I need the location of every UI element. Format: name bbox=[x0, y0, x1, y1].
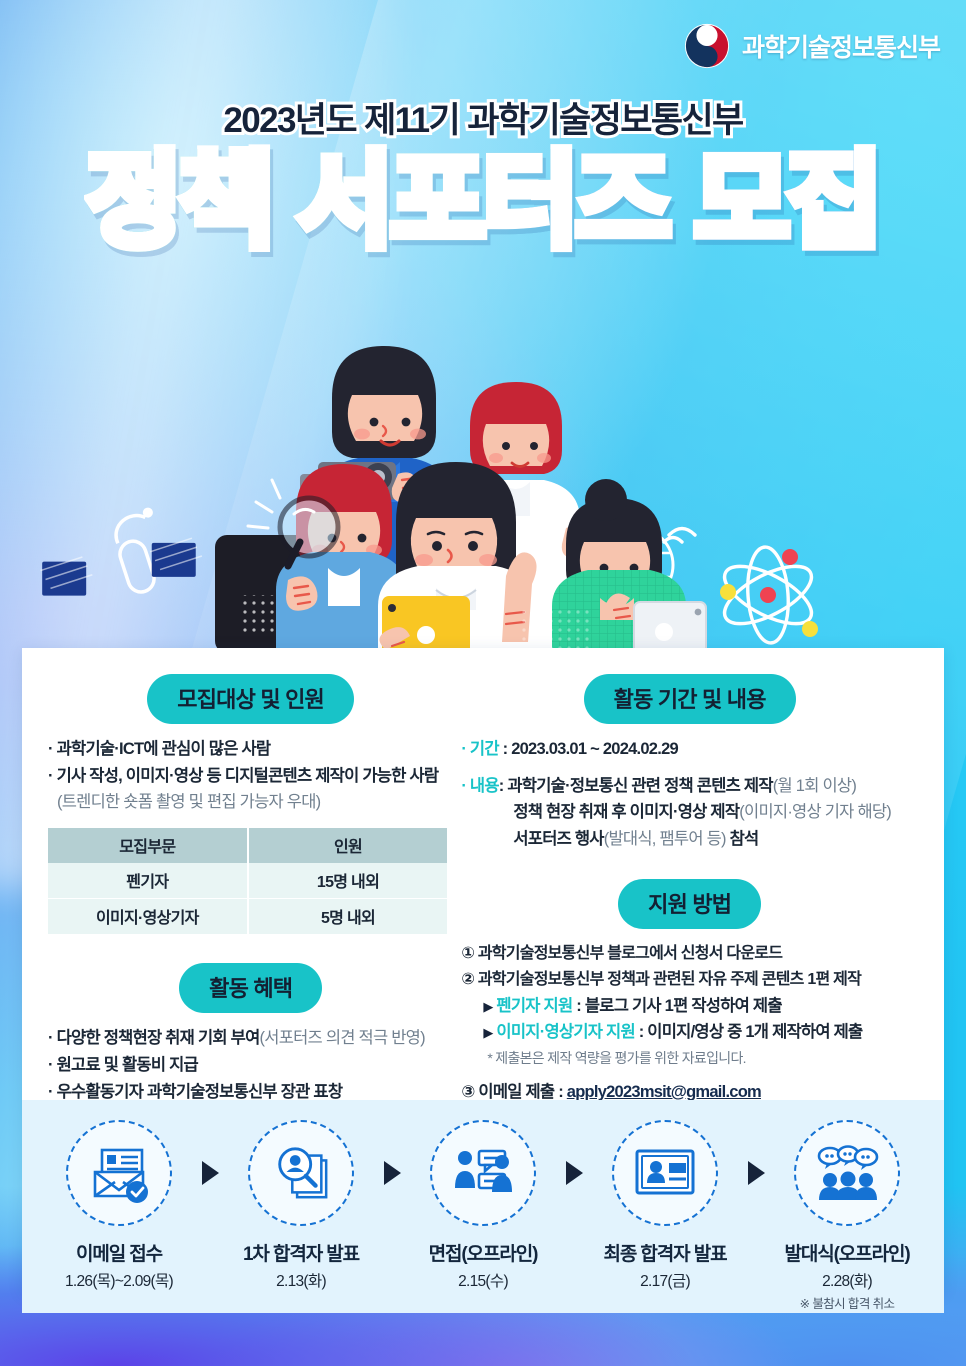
substep-1-value: : 블로그 기사 1편 작성하여 제출 bbox=[576, 997, 782, 1015]
section-recruit-target: 모집대상 및 인원 bbox=[48, 674, 447, 724]
recruit-target-bullets: · 과학기술·ICT에 관심이 많은 사람 · 기사 작성, 이미지·영상 등 … bbox=[48, 736, 447, 816]
ministry-name: 과학기술정보통신부 bbox=[742, 28, 940, 64]
content-value-1: : 과학기술·정보통신 관련 정책 콘텐츠 제작 bbox=[499, 777, 773, 795]
section-apply-method: 지원 방법 bbox=[461, 879, 918, 929]
list-item: · 기사 작성, 이미지·영상 등 디지털콘텐츠 제작이 가능한 사람 bbox=[48, 763, 447, 790]
activity-period-block: · 기간 : 2023.03.01 ~ 2024.02.29 · 내용: 과학기… bbox=[461, 736, 918, 853]
content-value-2b: 이미지·영상 제작 bbox=[626, 803, 739, 821]
arrow-right-icon bbox=[188, 1120, 232, 1226]
interview-person-icon bbox=[452, 1142, 514, 1204]
recruit-target-note: (트렌디한 숏폼 촬영 및 편집 가능자 우대) bbox=[48, 789, 447, 816]
table-cell-division: 펜기자 bbox=[48, 863, 248, 899]
timeline-step-first-result: 1차 합격자 발표 2.13(화) bbox=[232, 1120, 370, 1291]
recruit-table: 모집부문 인원 펜기자 15명 내외 이미지·영상기자 5명 내외 bbox=[48, 828, 447, 935]
timeline-step-final-result: 최종 합격자 발표 2.17(금) bbox=[596, 1120, 734, 1291]
email-link[interactable]: apply2023msit@gmail.com bbox=[567, 1083, 761, 1101]
content-paren-1: (월 1회 이상) bbox=[773, 777, 856, 795]
table-row: 펜기자 15명 내외 bbox=[48, 863, 447, 899]
content-line-1: · 내용: 과학기술·정보통신 관련 정책 콘텐츠 제작(월 1회 이상) bbox=[461, 773, 918, 800]
content-value-3c: 참석 bbox=[726, 830, 759, 848]
atom-icon bbox=[716, 546, 820, 645]
benefit-paren: (서포터즈 의견 적극 반영) bbox=[260, 1029, 425, 1047]
left-column: 모집대상 및 인원 · 과학기술·ICT에 관심이 많은 사람 · 기사 작성,… bbox=[48, 674, 447, 1132]
page-title: 정책 서포터즈 모집 bbox=[86, 149, 879, 255]
timeline-step-title: 이메일 접수 bbox=[50, 1239, 188, 1266]
email-envelope-check-icon bbox=[88, 1142, 150, 1204]
triangle-bullet-icon: ▶ bbox=[483, 999, 492, 1014]
substep-2-value: : 이미지/영상 중 1개 제작하여 제출 bbox=[639, 1023, 863, 1041]
timeline-step-date: 2.28(화) bbox=[778, 1269, 916, 1291]
table-header-count: 인원 bbox=[248, 828, 448, 863]
period-value: : 2023.03.01 ~ 2024.02.29 bbox=[503, 740, 678, 758]
triangle-bullet-icon: ▶ bbox=[483, 1025, 492, 1040]
email-submit-label: ③ 이메일 제출 : bbox=[461, 1083, 566, 1101]
timeline-step-date: 1.26(목)~2.09(목) bbox=[50, 1269, 188, 1291]
badge-apply-method: 지원 방법 bbox=[618, 879, 761, 929]
timeline-step-kickoff: 발대식(오프라인) 2.28(화) ※ 불참시 합격 취소 bbox=[778, 1120, 916, 1312]
satellite-icon bbox=[26, 496, 207, 624]
content-line-3: 서포터즈 행사(발대식, 팸투어 등) 참석 bbox=[461, 826, 918, 853]
title-subtitle: 2023년도 제11기 과학기술정보통신부 bbox=[223, 92, 742, 143]
poster-title-block: 2023년도 제11기 과학기술정보통신부 정책 서포터즈 모집 bbox=[0, 92, 966, 255]
document-search-person-icon bbox=[271, 1143, 331, 1203]
content-value-3a: 서포터즈 행사 bbox=[513, 830, 603, 848]
timeline-circle bbox=[794, 1120, 900, 1226]
group-chat-icon bbox=[815, 1144, 879, 1202]
process-timeline: 이메일 접수 1.26(목)~2.09(목) 1차 합격자 발표 2.13(화) bbox=[22, 1100, 944, 1313]
period-label: · 기간 bbox=[461, 740, 498, 758]
substep-1-label: 펜기자 지원 bbox=[496, 997, 572, 1015]
period-line: · 기간 : 2023.03.01 ~ 2024.02.29 bbox=[461, 736, 918, 763]
right-column: 활동 기간 및 내용 · 기간 : 2023.03.01 ~ 2024.02.2… bbox=[461, 674, 918, 1132]
timeline-circle bbox=[612, 1120, 718, 1226]
arrow-right-icon bbox=[734, 1120, 778, 1226]
table-header-division: 모집부문 bbox=[48, 828, 248, 863]
section-activity-period: 활동 기간 및 내용 bbox=[461, 674, 918, 724]
content-paren-3: (발대식, 팸투어 등) bbox=[604, 830, 726, 848]
timeline-step-date: 2.17(금) bbox=[596, 1269, 734, 1291]
content-value-2a: 정책 현장 취재 후 bbox=[513, 803, 626, 821]
timeline-step-date: 2.13(화) bbox=[232, 1269, 370, 1291]
timeline-circle bbox=[66, 1120, 172, 1226]
badge-benefits: 활동 혜택 bbox=[179, 963, 322, 1013]
content-paren-2: (이미지·영상 기자 해당) bbox=[739, 803, 891, 821]
table-cell-division: 이미지·영상기자 bbox=[48, 899, 248, 935]
timeline-step-interview: 면접(오프라인) 2.15(수) bbox=[414, 1120, 552, 1291]
timeline-step-title: 1차 합격자 발표 bbox=[232, 1239, 370, 1266]
apply-note: * 제출본은 제작 역량을 평가를 위한 자료입니다. bbox=[461, 1047, 918, 1070]
table-cell-count: 15명 내외 bbox=[248, 863, 448, 899]
section-benefits: 활동 혜택 bbox=[48, 963, 447, 1013]
table-cell-count: 5명 내외 bbox=[248, 899, 448, 935]
apply-step-1: ① 과학기술정보통신부 블로그에서 신청서 다운로드 bbox=[461, 941, 918, 967]
timeline-step-title: 최종 합격자 발표 bbox=[596, 1239, 734, 1266]
list-item: · 과학기술·ICT에 관심이 많은 사람 bbox=[48, 736, 447, 763]
list-item: · 원고료 및 활동비 지급 bbox=[48, 1052, 447, 1079]
table-header-row: 모집부문 인원 bbox=[48, 828, 447, 863]
id-card-icon bbox=[634, 1145, 696, 1201]
list-item: · 다양한 정책현장 취재 기회 부여(서포터즈 의견 적극 반영) bbox=[48, 1025, 447, 1052]
content-label: · 내용 bbox=[461, 777, 498, 795]
timeline-step-title: 면접(오프라인) bbox=[414, 1239, 552, 1266]
timeline-step-note: ※ 불참시 합격 취소 bbox=[778, 1293, 916, 1312]
apply-substep-1: ▶ 펜기자 지원 : 블로그 기사 1편 작성하여 제출 bbox=[461, 993, 918, 1020]
table-row: 이미지·영상기자 5명 내외 bbox=[48, 899, 447, 935]
timeline-step-email: 이메일 접수 1.26(목)~2.09(목) bbox=[50, 1120, 188, 1291]
arrow-right-icon bbox=[370, 1120, 414, 1226]
benefit-main: · 다양한 정책현장 취재 기회 부여 bbox=[48, 1029, 260, 1047]
tablet-icon-2 bbox=[634, 602, 706, 650]
substep-2-label: 이미지·영상기자 지원 bbox=[496, 1023, 634, 1041]
badge-recruit-target: 모집대상 및 인원 bbox=[147, 674, 354, 724]
apply-substep-2: ▶ 이미지·영상기자 지원 : 이미지/영상 중 1개 제작하여 제출 bbox=[461, 1019, 918, 1046]
ministry-logo-row: 과학기술정보통신부 bbox=[683, 22, 940, 70]
apply-step-2: ② 과학기술정보통신부 정책과 관련된 자유 주제 콘텐츠 1편 제작 bbox=[461, 967, 918, 993]
badge-activity-period: 활동 기간 및 내용 bbox=[584, 674, 796, 724]
timeline-circle bbox=[248, 1120, 354, 1226]
arrow-right-icon bbox=[552, 1120, 596, 1226]
taegeuk-logo-icon bbox=[683, 22, 731, 70]
content-line-2: 정책 현장 취재 후 이미지·영상 제작(이미지·영상 기자 해당) bbox=[461, 799, 918, 826]
timeline-step-title: 발대식(오프라인) bbox=[778, 1239, 916, 1266]
timeline-circle bbox=[430, 1120, 536, 1226]
hero-illustration: 6G bbox=[0, 250, 966, 650]
timeline-step-date: 2.15(수) bbox=[414, 1269, 552, 1291]
